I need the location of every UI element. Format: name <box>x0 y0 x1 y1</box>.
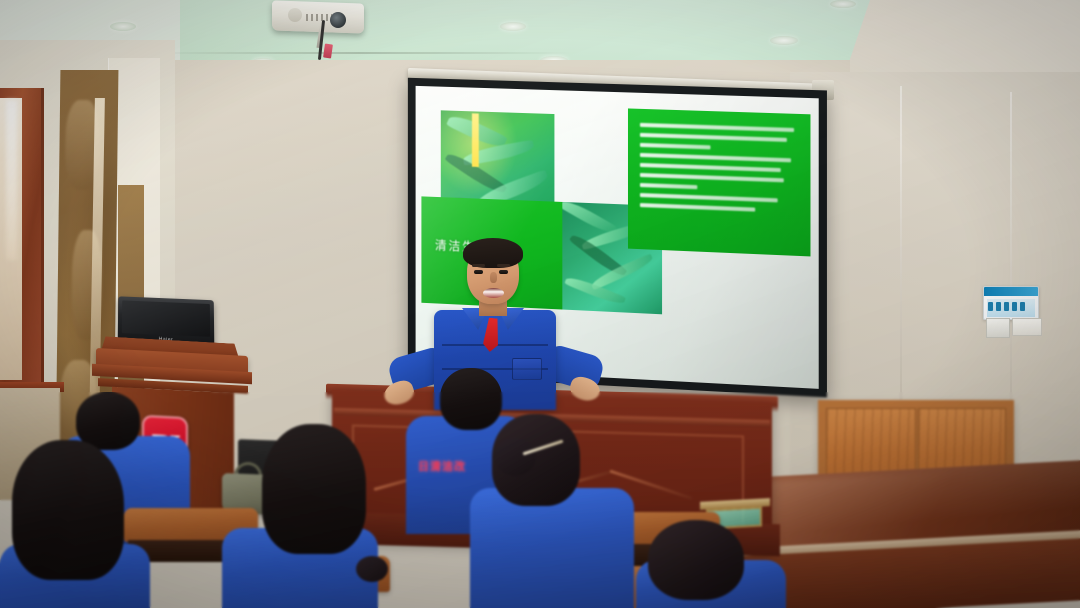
wall-control-panel[interactable] <box>983 286 1039 320</box>
attendee-center-right-bun <box>494 438 536 476</box>
projector-lens-icon <box>330 12 346 28</box>
ceiling-seam <box>150 52 570 54</box>
attendee-center-back-text: 日清洁改 <box>418 458 466 474</box>
attendee-center-right-body <box>470 488 634 608</box>
downlight-5 <box>830 0 856 8</box>
presenter-nose <box>490 272 497 283</box>
panel-header-bar <box>984 287 1038 296</box>
panel-icon-1 <box>988 302 993 311</box>
panel-icon-3 <box>1004 302 1009 311</box>
panel-icon-row <box>988 302 1025 311</box>
presenter-brow-left <box>472 264 485 267</box>
wall-panel-seam-2 <box>1010 92 1012 442</box>
downlight-1 <box>110 22 136 31</box>
panel-icon-5 <box>1020 302 1025 311</box>
presenter-brow-right <box>497 264 510 267</box>
wall-label-plate <box>1012 318 1042 336</box>
wall-panel-seam-1 <box>900 86 902 416</box>
presenter-mouth <box>483 288 504 298</box>
downlight-4 <box>770 36 798 45</box>
attendee-front-left-head <box>262 424 366 554</box>
projector-control-dots <box>306 14 332 21</box>
projector-vent-icon <box>288 8 302 22</box>
podium-monitor-screen <box>122 300 210 336</box>
downlight-2 <box>500 22 526 31</box>
presenter-eye-left <box>474 270 483 274</box>
panel-icon-2 <box>996 302 1001 311</box>
wall-switch-box[interactable] <box>986 318 1010 338</box>
attendee-far-left-head <box>12 440 124 580</box>
slide-bullet-textbox <box>628 108 811 256</box>
presenter-eye-right <box>499 270 508 274</box>
attendee-front-right-head <box>648 520 744 600</box>
attendee-center-head <box>440 368 502 430</box>
panel-icon-4 <box>1012 302 1017 311</box>
window-glare <box>6 100 17 260</box>
presenter-chest-pocket <box>512 358 542 380</box>
conference-room-photo: 清洁生产措施 <box>0 0 1080 608</box>
attendee-front-left-hairtie <box>356 556 388 582</box>
